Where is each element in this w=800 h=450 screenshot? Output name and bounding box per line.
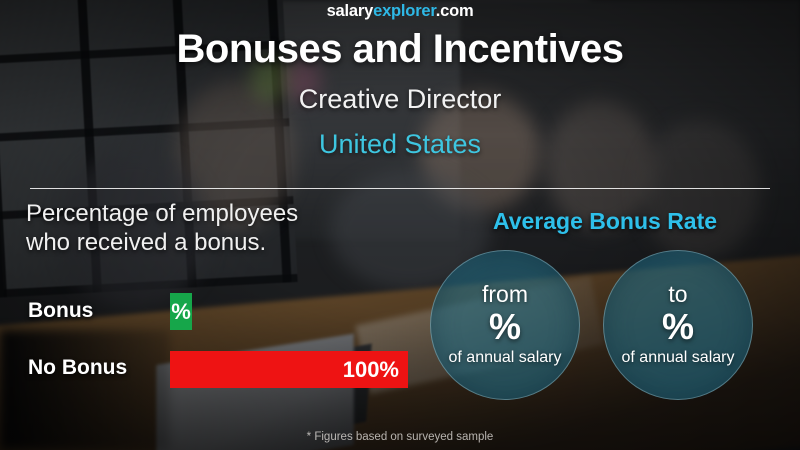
bonus-rate-to-circle: to % of annual salary [603,250,753,400]
infographic-card: salaryexplorer.com Bonuses and Incentive… [0,0,800,450]
bar-no-bonus: 100% [170,351,408,388]
bar-value-no-bonus: 100% [343,357,399,383]
logo-part-explorer: explorer [373,2,436,20]
bonus-rate-from-value: % [489,307,521,347]
bonus-rate-from-sub: of annual salary [449,349,562,367]
chart-caption-line-2: who received a bonus. [26,228,426,257]
bar-label-bonus: Bonus [28,299,93,323]
chart-caption-line-1: Percentage of employees [26,199,426,228]
bonus-rate-from-label: from [482,283,528,306]
footnote: * Figures based on surveyed sample [0,431,800,443]
horizontal-divider [30,188,770,189]
bonus-rate-to-sub: of annual salary [622,349,735,367]
chart-caption: Percentage of employees who received a b… [26,199,426,257]
job-title: Creative Director [0,84,800,115]
logo-part-domain: .com [436,2,474,20]
bonus-rate-to-value: % [662,307,694,347]
bonus-rate-to-label: to [668,283,687,306]
bonus-rate-from-circle: from % of annual salary [430,250,580,400]
site-logo[interactable]: salaryexplorer.com [0,2,800,21]
bar-value-bonus: % [171,299,191,325]
bar-label-no-bonus: No Bonus [28,356,127,380]
country-label: United States [0,129,800,160]
average-bonus-rate-title: Average Bonus Rate [430,208,780,235]
page-title: Bonuses and Incentives [0,27,800,72]
logo-part-salary: salary [327,2,374,20]
bar-bonus: % [170,293,192,330]
